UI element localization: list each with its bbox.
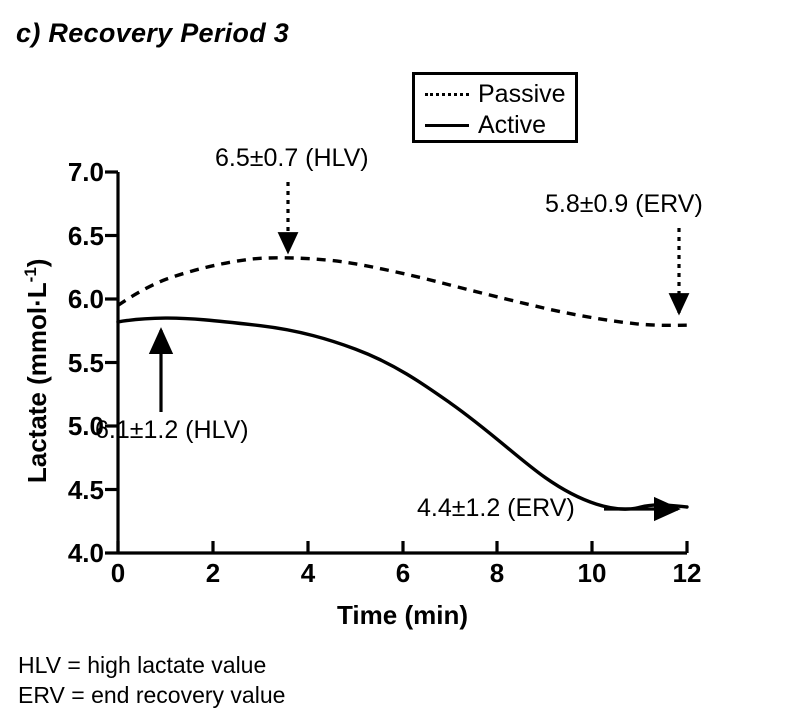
annotation-label-erv-passive: 5.8±0.9 (ERV): [545, 192, 703, 217]
plot-area: [0, 0, 809, 712]
figure-panel: c) Recovery Period 3 Passive Active Lact…: [0, 0, 809, 712]
footnote-erv: ERV = end recovery value: [18, 680, 285, 710]
y-axis-ticks: [105, 172, 118, 553]
annotation-label-erv-active: 4.4±1.2 (ERV): [417, 496, 575, 521]
annotation-label-hlv-passive: 6.5±0.7 (HLV): [215, 146, 369, 171]
annotation-label-hlv-active: 6.1±1.2 (HLV): [95, 418, 249, 443]
series-line-active: [118, 318, 687, 509]
figure-footnotes: HLV = high lactate value ERV = end recov…: [18, 650, 285, 711]
series-line-passive: [118, 258, 687, 326]
footnote-hlv: HLV = high lactate value: [18, 650, 285, 680]
x-axis-ticks: [118, 541, 687, 553]
